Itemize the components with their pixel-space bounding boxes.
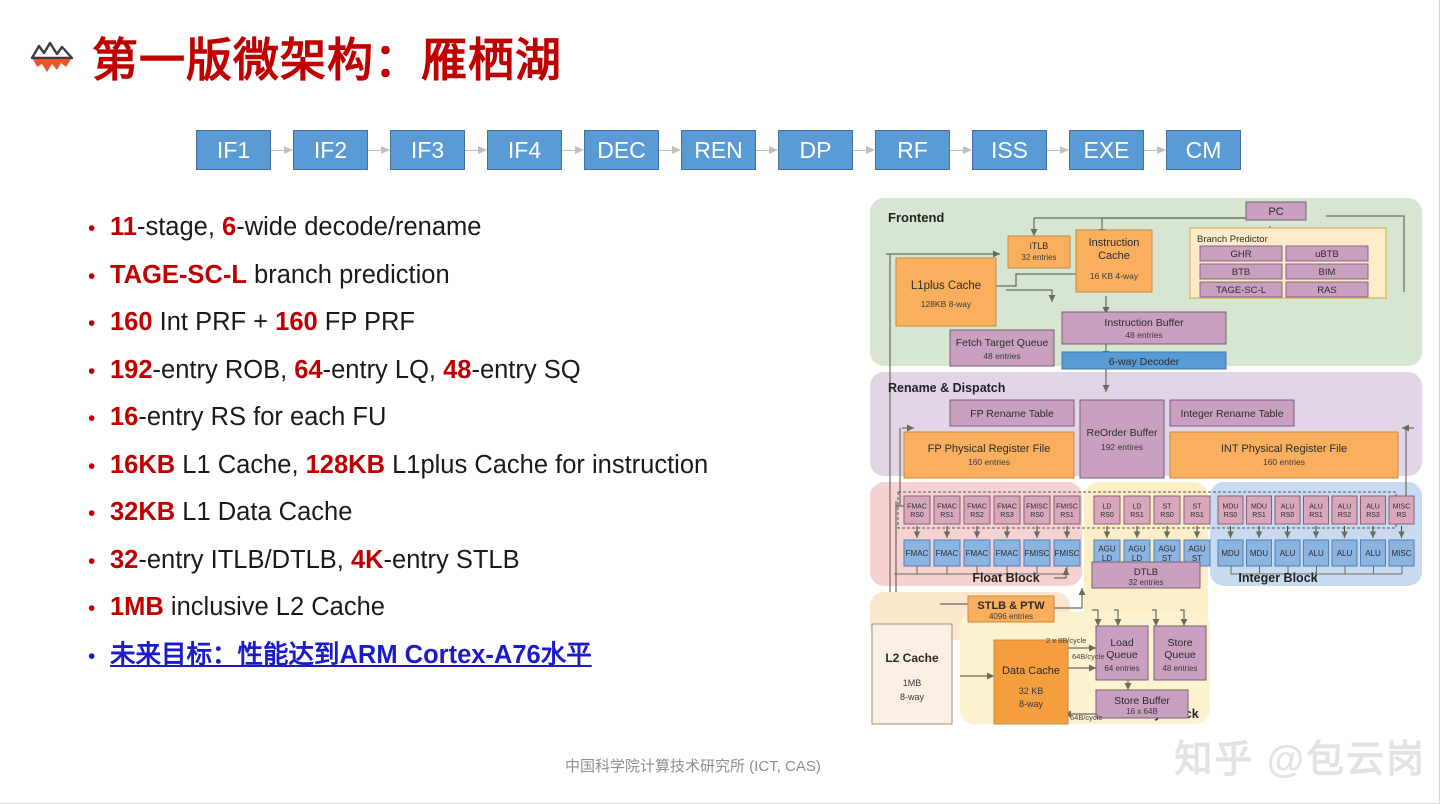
float-fu-1: FMAC: [934, 540, 960, 566]
integer-rs-1: MDURS1: [1247, 496, 1272, 524]
svg-text:32 entries: 32 entries: [1128, 578, 1163, 587]
float-rs-2: FMACRS2: [964, 496, 990, 524]
svg-text:Integer Rename Table: Integer Rename Table: [1180, 408, 1283, 420]
svg-text:RS1: RS1: [1190, 512, 1204, 519]
bullet-dot-icon: •: [88, 503, 110, 524]
svg-text:16 KB 4-way: 16 KB 4-way: [1090, 271, 1139, 281]
svg-text:32 KB: 32 KB: [1019, 686, 1044, 696]
bullet-text: 16KB L1 Cache, 128KB L1plus Cache for in…: [110, 450, 708, 480]
block-store-buffer: Store Buffer 16 x 64B: [1096, 690, 1188, 718]
svg-text:Store Buffer: Store Buffer: [1114, 695, 1170, 707]
svg-text:ST: ST: [1193, 504, 1203, 511]
svg-text:RS0: RS0: [1160, 512, 1174, 519]
block-fp-rename-table: FP Rename Table: [950, 400, 1074, 426]
bullet-item-3: •192-entry ROB, 64-entry LQ, 48-entry SQ: [88, 355, 878, 385]
bullet-item-4: •16-entry RS for each FU: [88, 402, 878, 432]
svg-text:MISC: MISC: [1393, 504, 1411, 511]
float-fu-0: FMAC: [904, 540, 930, 566]
svg-text:FMAC: FMAC: [967, 504, 987, 511]
integer-fu-4: ALU: [1332, 540, 1357, 566]
integer-rs-2: ALURS0: [1275, 496, 1300, 524]
svg-text:RS1: RS1: [1252, 512, 1266, 519]
pipeline-stage-ren: REN: [681, 130, 756, 170]
svg-text:MDU: MDU: [1223, 504, 1239, 511]
block-l1plus-cache: L1plus Cache 128KB 8-way: [896, 258, 996, 326]
svg-text:FP Physical Register File: FP Physical Register File: [928, 443, 1051, 455]
bullet-dot-icon: •: [88, 408, 110, 429]
svg-text:LD: LD: [1103, 504, 1112, 511]
microarchitecture-diagram: Frontend PC Branch Predictor GHR uBTB BT…: [866, 196, 1426, 728]
block-pc: PC: [1246, 202, 1306, 220]
bullet-dot-icon: •: [88, 266, 110, 287]
mountain-flame-logo-icon: [28, 36, 76, 84]
block-fp-prf: FP Physical Register File 160 entries: [904, 432, 1074, 478]
block-l2-cache: L2 Cache 1MB 8-way: [872, 624, 952, 724]
bullet-text: 未来目标：性能达到ARM Cortex-A76水平: [110, 640, 592, 670]
pipeline-arrow: [853, 144, 875, 156]
svg-text:RS3: RS3: [1000, 512, 1014, 519]
svg-text:ALU: ALU: [1281, 504, 1295, 511]
svg-text:RS1: RS1: [1060, 512, 1074, 519]
svg-text:uBTB: uBTB: [1315, 249, 1339, 260]
pipeline-arrow: [756, 144, 778, 156]
region-label-rename: Rename & Dispatch: [888, 381, 1005, 395]
block-dtlb: DTLB 32 entries: [1092, 562, 1200, 588]
bullet-text: 16-entry RS for each FU: [110, 402, 386, 432]
pipeline-arrow: [659, 144, 681, 156]
bw-label-2: 64B/cycle: [1070, 713, 1103, 722]
svg-text:RS0: RS0: [1030, 512, 1044, 519]
page-title: 第一版微架构：雁栖湖: [92, 37, 562, 83]
svg-text:32 entries: 32 entries: [1021, 253, 1056, 262]
float-rs-4: FMISCRS0: [1024, 496, 1050, 524]
svg-text:iTLB: iTLB: [1030, 241, 1049, 251]
svg-text:RS3: RS3: [1366, 512, 1380, 519]
svg-text:ALU: ALU: [1280, 549, 1296, 558]
bullet-dot-icon: •: [88, 313, 110, 334]
block-reorder-buffer: ReOrder Buffer 192 entires: [1080, 400, 1164, 478]
integer-rs-6: MISCRS: [1389, 496, 1414, 524]
float-rs-0: FMACRS0: [904, 496, 930, 524]
loadstore-rs-0: LDRS0: [1094, 496, 1120, 524]
integer-fu-1: MDU: [1247, 540, 1272, 566]
svg-text:BTB: BTB: [1232, 267, 1250, 278]
svg-text:RS2: RS2: [1338, 512, 1352, 519]
svg-text:160 entries: 160 entries: [968, 457, 1010, 467]
svg-text:FMAC: FMAC: [937, 504, 957, 511]
svg-text:4096 entries: 4096 entries: [989, 612, 1033, 621]
svg-text:160 entries: 160 entries: [1263, 457, 1305, 467]
pipeline-stage-if1: IF1: [196, 130, 271, 170]
svg-text:Instruction: Instruction: [1089, 237, 1140, 249]
svg-text:MDU: MDU: [1251, 504, 1267, 511]
svg-text:INT Physical Register File: INT Physical Register File: [1221, 443, 1347, 455]
bullet-text: 192-entry ROB, 64-entry LQ, 48-entry SQ: [110, 355, 581, 385]
svg-text:64 entries: 64 entries: [1104, 664, 1139, 673]
svg-text:L2 Cache: L2 Cache: [885, 651, 939, 665]
bullet-dot-icon: •: [88, 456, 110, 477]
svg-text:8-way: 8-way: [900, 692, 925, 702]
integer-fu-6: MISC: [1389, 540, 1414, 566]
svg-text:AGU: AGU: [1188, 544, 1206, 553]
region-label-integer: Integer Block: [1238, 571, 1317, 585]
region-label-frontend: Frontend: [888, 210, 944, 225]
block-instruction-cache: Instruction Cache 16 KB 4-way: [1076, 230, 1152, 292]
svg-text:Branch Predictor: Branch Predictor: [1197, 234, 1268, 245]
svg-text:192 entires: 192 entires: [1101, 442, 1143, 452]
pipeline-arrow: [1047, 144, 1069, 156]
svg-text:RS0: RS0: [1100, 512, 1114, 519]
svg-text:MDU: MDU: [1221, 549, 1239, 558]
svg-text:1MB: 1MB: [903, 678, 922, 688]
svg-text:48 entries: 48 entries: [1125, 330, 1162, 340]
svg-text:FP Rename Table: FP Rename Table: [970, 408, 1054, 420]
pipeline-stage-exe: EXE: [1069, 130, 1144, 170]
watermark: 知乎 @包云岗: [1174, 728, 1426, 783]
block-fetch-target-queue: Fetch Target Queue 48 entries: [950, 330, 1054, 366]
svg-text:8-way: 8-way: [1019, 699, 1044, 709]
bw-label-0: 2 x 8B/cycle: [1046, 636, 1086, 645]
pipeline-arrow: [465, 144, 487, 156]
svg-text:48 entries: 48 entries: [983, 351, 1020, 361]
svg-text:FMISC: FMISC: [1056, 504, 1078, 511]
pipeline-stage-dec: DEC: [584, 130, 659, 170]
bullet-item-7: •32-entry ITLB/DTLB, 4K-entry STLB: [88, 545, 878, 575]
svg-text:16 x 64B: 16 x 64B: [1126, 707, 1158, 716]
svg-text:FMISC: FMISC: [1026, 504, 1048, 511]
bw-label-1: 64B/cycle: [1072, 652, 1105, 661]
svg-text:ALU: ALU: [1366, 504, 1380, 511]
bullet-item-6: •32KB L1 Data Cache: [88, 497, 878, 527]
pipeline-stage-rf: RF: [875, 130, 950, 170]
bullet-item-5: •16KB L1 Cache, 128KB L1plus Cache for i…: [88, 450, 878, 480]
svg-text:FMAC: FMAC: [996, 549, 1019, 558]
svg-text:BIM: BIM: [1319, 267, 1336, 278]
block-itlb: iTLB 32 entries: [1008, 236, 1070, 268]
svg-text:RAS: RAS: [1317, 285, 1337, 296]
svg-text:RS1: RS1: [940, 512, 954, 519]
integer-rs-5: ALURS3: [1361, 496, 1386, 524]
svg-text:Queue: Queue: [1164, 649, 1196, 661]
svg-text:RS0: RS0: [1281, 512, 1295, 519]
svg-text:FMAC: FMAC: [997, 504, 1017, 511]
svg-text:ReOrder Buffer: ReOrder Buffer: [1086, 427, 1158, 439]
footer-affiliation: 中国科学院计算技术研究所 (ICT, CAS): [565, 755, 821, 776]
bullet-dot-icon: •: [88, 598, 110, 619]
loadstore-rs-2: STRS0: [1154, 496, 1180, 524]
svg-text:ALU: ALU: [1337, 549, 1353, 558]
svg-text:AGU: AGU: [1098, 544, 1116, 553]
pipeline-arrow: [271, 144, 293, 156]
block-stlb-ptw: STLB & PTW 4096 entries: [968, 596, 1054, 622]
svg-text:L1plus Cache: L1plus Cache: [911, 280, 981, 292]
svg-text:DTLB: DTLB: [1134, 567, 1158, 578]
svg-text:STLB & PTW: STLB & PTW: [977, 600, 1045, 612]
svg-text:FMISC: FMISC: [1025, 549, 1050, 558]
diagram-svg: Frontend PC Branch Predictor GHR uBTB BT…: [866, 196, 1426, 728]
svg-text:RS1: RS1: [1130, 512, 1144, 519]
svg-text:RS0: RS0: [910, 512, 924, 519]
svg-text:ALU: ALU: [1309, 504, 1323, 511]
svg-text:128KB 8-way: 128KB 8-way: [921, 299, 972, 309]
svg-text:RS2: RS2: [970, 512, 984, 519]
bullet-item-2: •160 Int PRF + 160 FP PRF: [88, 307, 878, 337]
bullet-text: 11-stage, 6-wide decode/rename: [110, 212, 481, 242]
svg-text:FMAC: FMAC: [936, 549, 959, 558]
float-fu-2: FMAC: [964, 540, 990, 566]
float-rs-5: FMISCRS1: [1054, 496, 1080, 524]
svg-text:Load: Load: [1110, 637, 1134, 649]
block-integer-rename-table: Integer Rename Table: [1170, 400, 1294, 426]
integer-rs-3: ALURS1: [1304, 496, 1329, 524]
feature-bullet-list: •11-stage, 6-wide decode/rename•TAGE-SC-…: [88, 212, 878, 687]
svg-text:FMAC: FMAC: [906, 549, 929, 558]
pipeline-stage-iss: ISS: [972, 130, 1047, 170]
svg-text:AGU: AGU: [1128, 544, 1146, 553]
integer-fu-3: ALU: [1304, 540, 1329, 566]
svg-text:ST: ST: [1163, 504, 1173, 511]
svg-text:RS: RS: [1397, 512, 1407, 519]
block-decoder: 6-way Decoder: [1062, 352, 1226, 369]
svg-text:TAGE-SC-L: TAGE-SC-L: [1216, 285, 1266, 296]
svg-text:RS0: RS0: [1224, 512, 1238, 519]
bullet-text: 160 Int PRF + 160 FP PRF: [110, 307, 415, 337]
loadstore-rs-3: STRS1: [1184, 496, 1210, 524]
svg-text:Store: Store: [1167, 637, 1192, 649]
pipeline-stage-row: IF1IF2IF3IF4DECRENDPRFISSEXECM: [196, 130, 1241, 170]
bullet-text: 1MB inclusive L2 Cache: [110, 592, 385, 622]
block-instruction-buffer: Instruction Buffer 48 entries: [1062, 312, 1226, 344]
svg-text:FMAC: FMAC: [907, 504, 927, 511]
float-rs-1: FMACRS1: [934, 496, 960, 524]
svg-text:ALU: ALU: [1338, 504, 1352, 511]
svg-text:48 entries: 48 entries: [1162, 664, 1197, 673]
region-label-float: Float Block: [972, 571, 1039, 585]
integer-rs-0: MDURS0: [1218, 496, 1243, 524]
pipeline-arrow: [368, 144, 390, 156]
svg-text:RS1: RS1: [1309, 512, 1323, 519]
bullet-item-1: •TAGE-SC-L branch prediction: [88, 260, 878, 290]
pipeline-stage-cm: CM: [1166, 130, 1241, 170]
bullet-item-8: •1MB inclusive L2 Cache: [88, 592, 878, 622]
block-data-cache: Data Cache 32 KB 8-way: [994, 640, 1068, 724]
pipeline-arrow: [562, 144, 584, 156]
float-rs-3: FMACRS3: [994, 496, 1020, 524]
svg-text:MISC: MISC: [1392, 549, 1412, 558]
svg-text:Queue: Queue: [1106, 649, 1138, 661]
svg-text:Fetch Target Queue: Fetch Target Queue: [956, 337, 1049, 349]
bullet-text: 32-entry ITLB/DTLB, 4K-entry STLB: [110, 545, 520, 575]
pipeline-arrow: [1144, 144, 1166, 156]
svg-text:FMISC: FMISC: [1055, 549, 1080, 558]
loadstore-rs-1: LDRS1: [1124, 496, 1150, 524]
slide-title-row: 第一版微架构：雁栖湖: [28, 36, 562, 84]
float-fu-4: FMISC: [1024, 540, 1050, 566]
block-int-prf: INT Physical Register File 160 entries: [1170, 432, 1398, 478]
svg-text:ALU: ALU: [1365, 549, 1381, 558]
block-store-queue: Store Queue 48 entries: [1154, 626, 1206, 680]
svg-text:Cache: Cache: [1098, 250, 1130, 262]
block-branch-predictor: Branch Predictor GHR uBTB BTB BIM TAGE-S…: [1190, 228, 1386, 298]
pipeline-stage-if4: IF4: [487, 130, 562, 170]
svg-text:Data Cache: Data Cache: [1002, 665, 1060, 677]
svg-text:LD: LD: [1133, 504, 1142, 511]
bullet-text: TAGE-SC-L branch prediction: [110, 260, 450, 290]
svg-text:AGU: AGU: [1158, 544, 1176, 553]
svg-text:Instruction Buffer: Instruction Buffer: [1104, 317, 1184, 329]
bullet-item-9[interactable]: •未来目标：性能达到ARM Cortex-A76水平: [88, 640, 878, 670]
svg-text:MDU: MDU: [1250, 549, 1268, 558]
pipeline-stage-if2: IF2: [293, 130, 368, 170]
svg-text:PC: PC: [1268, 206, 1283, 218]
bullet-dot-icon: •: [88, 551, 110, 572]
slide-canvas: 第一版微架构：雁栖湖 IF1IF2IF3IF4DECRENDPRFISSEXEC…: [0, 0, 1440, 804]
svg-text:ALU: ALU: [1308, 549, 1324, 558]
float-fu-3: FMAC: [994, 540, 1020, 566]
bullet-dot-icon: •: [88, 218, 110, 239]
bullet-item-0: •11-stage, 6-wide decode/rename: [88, 212, 878, 242]
bullet-text: 32KB L1 Data Cache: [110, 497, 352, 527]
pipeline-stage-dp: DP: [778, 130, 853, 170]
integer-rs-4: ALURS2: [1332, 496, 1357, 524]
svg-text:FMAC: FMAC: [966, 549, 989, 558]
integer-fu-0: MDU: [1218, 540, 1243, 566]
float-fu-5: FMISC: [1054, 540, 1080, 566]
bullet-dot-icon: •: [88, 361, 110, 382]
bullet-dot-icon: •: [88, 646, 110, 667]
integer-fu-5: ALU: [1361, 540, 1386, 566]
integer-fu-2: ALU: [1275, 540, 1300, 566]
pipeline-arrow: [950, 144, 972, 156]
pipeline-stage-if3: IF3: [390, 130, 465, 170]
svg-text:6-way Decoder: 6-way Decoder: [1109, 356, 1180, 368]
svg-text:GHR: GHR: [1230, 249, 1251, 260]
